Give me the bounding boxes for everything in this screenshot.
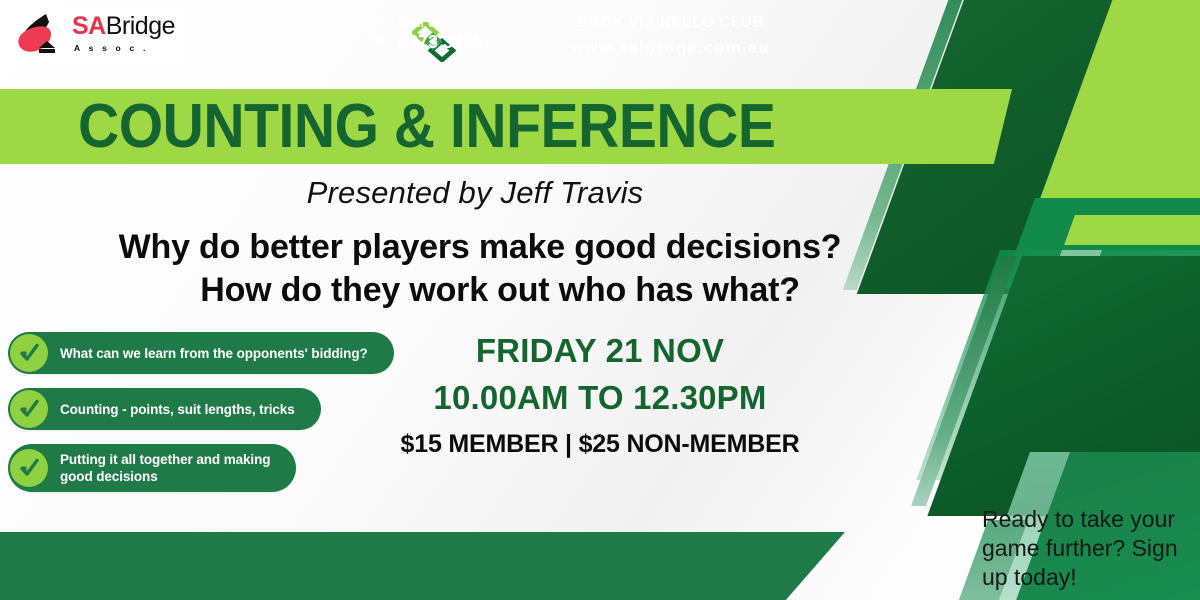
check-icon [10,334,48,372]
list-item: Counting - points, suit lengths, tricks [8,388,321,430]
headline-line-1: Why do better players make good decision… [0,226,960,269]
sa-bridge-wordmark: SABridge A s s o c . [72,14,182,55]
headline: Why do better players make good decision… [0,226,960,312]
event-date: FRIDAY 21 NOV [380,332,820,371]
contact-phone[interactable]: Call us 8373 3995 [365,14,483,54]
logo-text-bridge: Bridge [106,12,175,40]
list-item: What can we learn from the opponents' bi… [8,332,394,374]
booking-label: BOOK VIA HELLO CLUB [520,14,820,32]
call-us-label: Call us [398,14,444,31]
signup-cta-text: Ready to take your game further? Sign up… [982,505,1182,592]
check-icon [10,390,48,428]
phone-icon [365,16,391,51]
list-item: Putting it all together and making good … [8,444,296,492]
headline-line-2: How do they work out who has what? [0,269,960,312]
event-price: $15 MEMBER | $25 NON-MEMBER [380,430,820,459]
footer-bar [0,532,845,600]
event-poster: COUNTING & INFERENCE Presented by Jeff T… [0,0,1200,600]
decorative-shape-mid-top [1002,198,1200,288]
logo-text-sa: SA [72,12,106,40]
phone-number[interactable]: 8373 3995 [398,32,483,52]
decorative-shape-fade-mid2 [984,250,1102,465]
check-icon [10,449,48,487]
title-banner: COUNTING & INFERENCE [0,89,1012,164]
presenter-line: Presented by Jeff Travis [0,175,950,211]
event-time: 10.00AM TO 12.30PM [380,379,820,418]
page-title: COUNTING & INFERENCE [78,96,775,158]
checklist: What can we learn from the opponents' bi… [8,332,394,506]
spade-heart-cards-icon [16,10,68,58]
decorative-shape-light-top [1032,0,1200,220]
list-item-label: Counting - points, suit lengths, tricks [60,401,295,418]
sa-bridge-logo: SABridge A s s o c . [10,6,182,62]
logo-text-assoc: A s s o c . [74,43,149,53]
decorative-shape-light-top2 [1064,215,1200,245]
list-item-label: What can we learn from the opponents' bi… [60,345,368,362]
list-item-label: Putting it all together and making good … [60,451,270,485]
decorative-shape-dark-bottom [927,256,1200,516]
event-details: FRIDAY 21 NOV 10.00AM TO 12.30PM $15 MEM… [380,332,820,459]
website-url[interactable]: www.sabridge.com.au [520,38,820,58]
booking-info: BOOK VIA HELLO CLUB www.sabridge.com.au [520,14,820,58]
